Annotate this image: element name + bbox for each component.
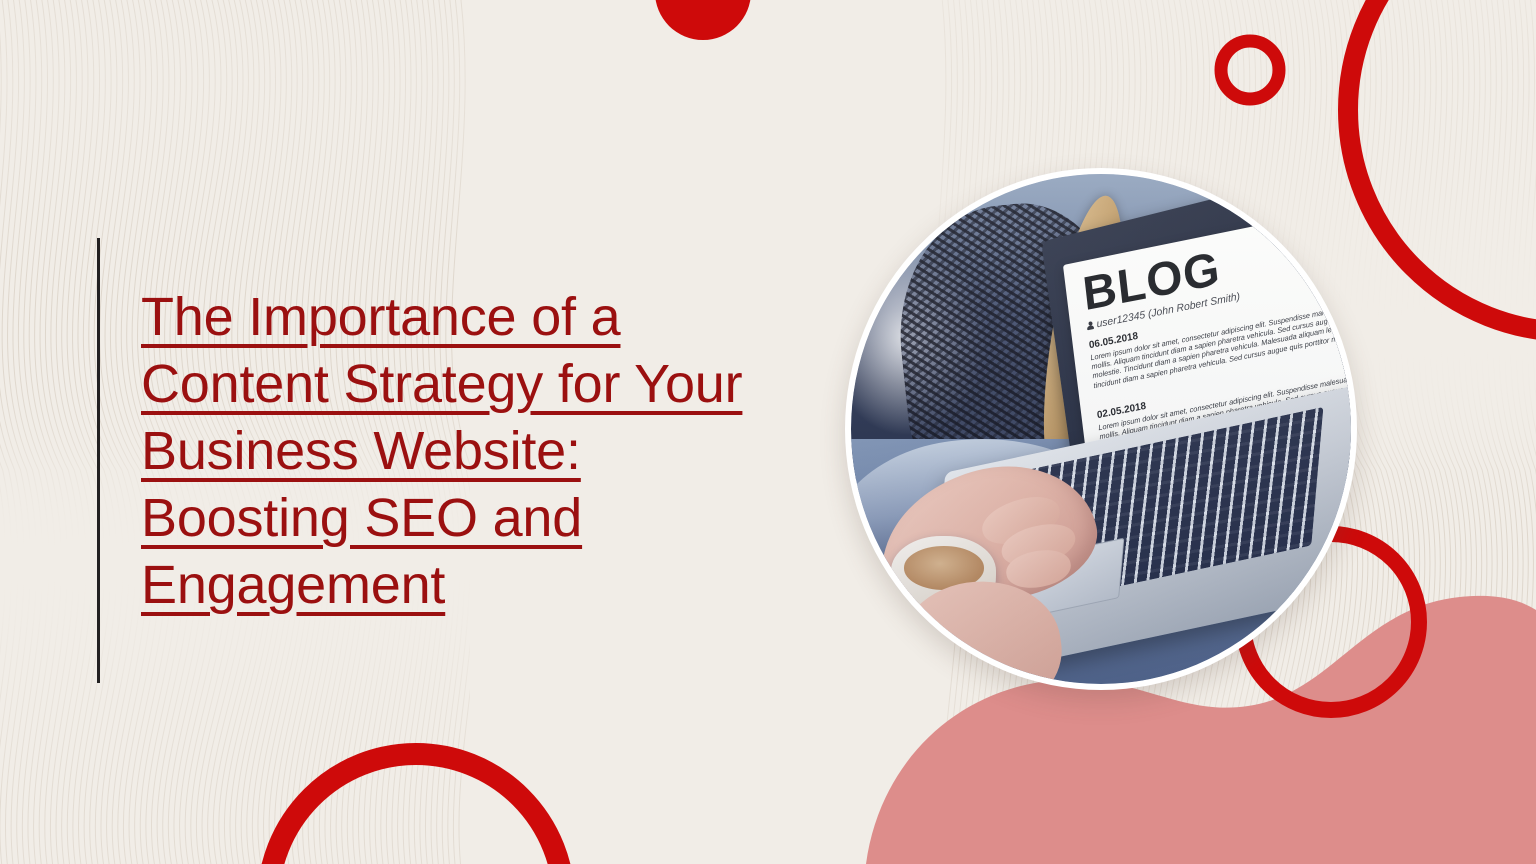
vertical-accent-rule <box>97 238 100 683</box>
slide-canvas: BLOG user12345 (John Robert Smith) 06.05… <box>0 0 1536 864</box>
red-arc-large-top-right <box>1348 0 1536 332</box>
title-block: The Importance of a Content Strategy for… <box>97 238 797 683</box>
red-ring-small-top-right <box>1221 41 1279 99</box>
hero-photo-circle: BLOG user12345 (John Robert Smith) 06.05… <box>845 168 1357 690</box>
red-ring-bottom-left <box>268 754 564 864</box>
user-icon <box>1086 321 1094 331</box>
page-title: The Importance of a Content Strategy for… <box>141 284 797 619</box>
hero-photo: BLOG user12345 (John Robert Smith) 06.05… <box>851 174 1351 684</box>
red-filled-circle-top <box>655 0 751 40</box>
